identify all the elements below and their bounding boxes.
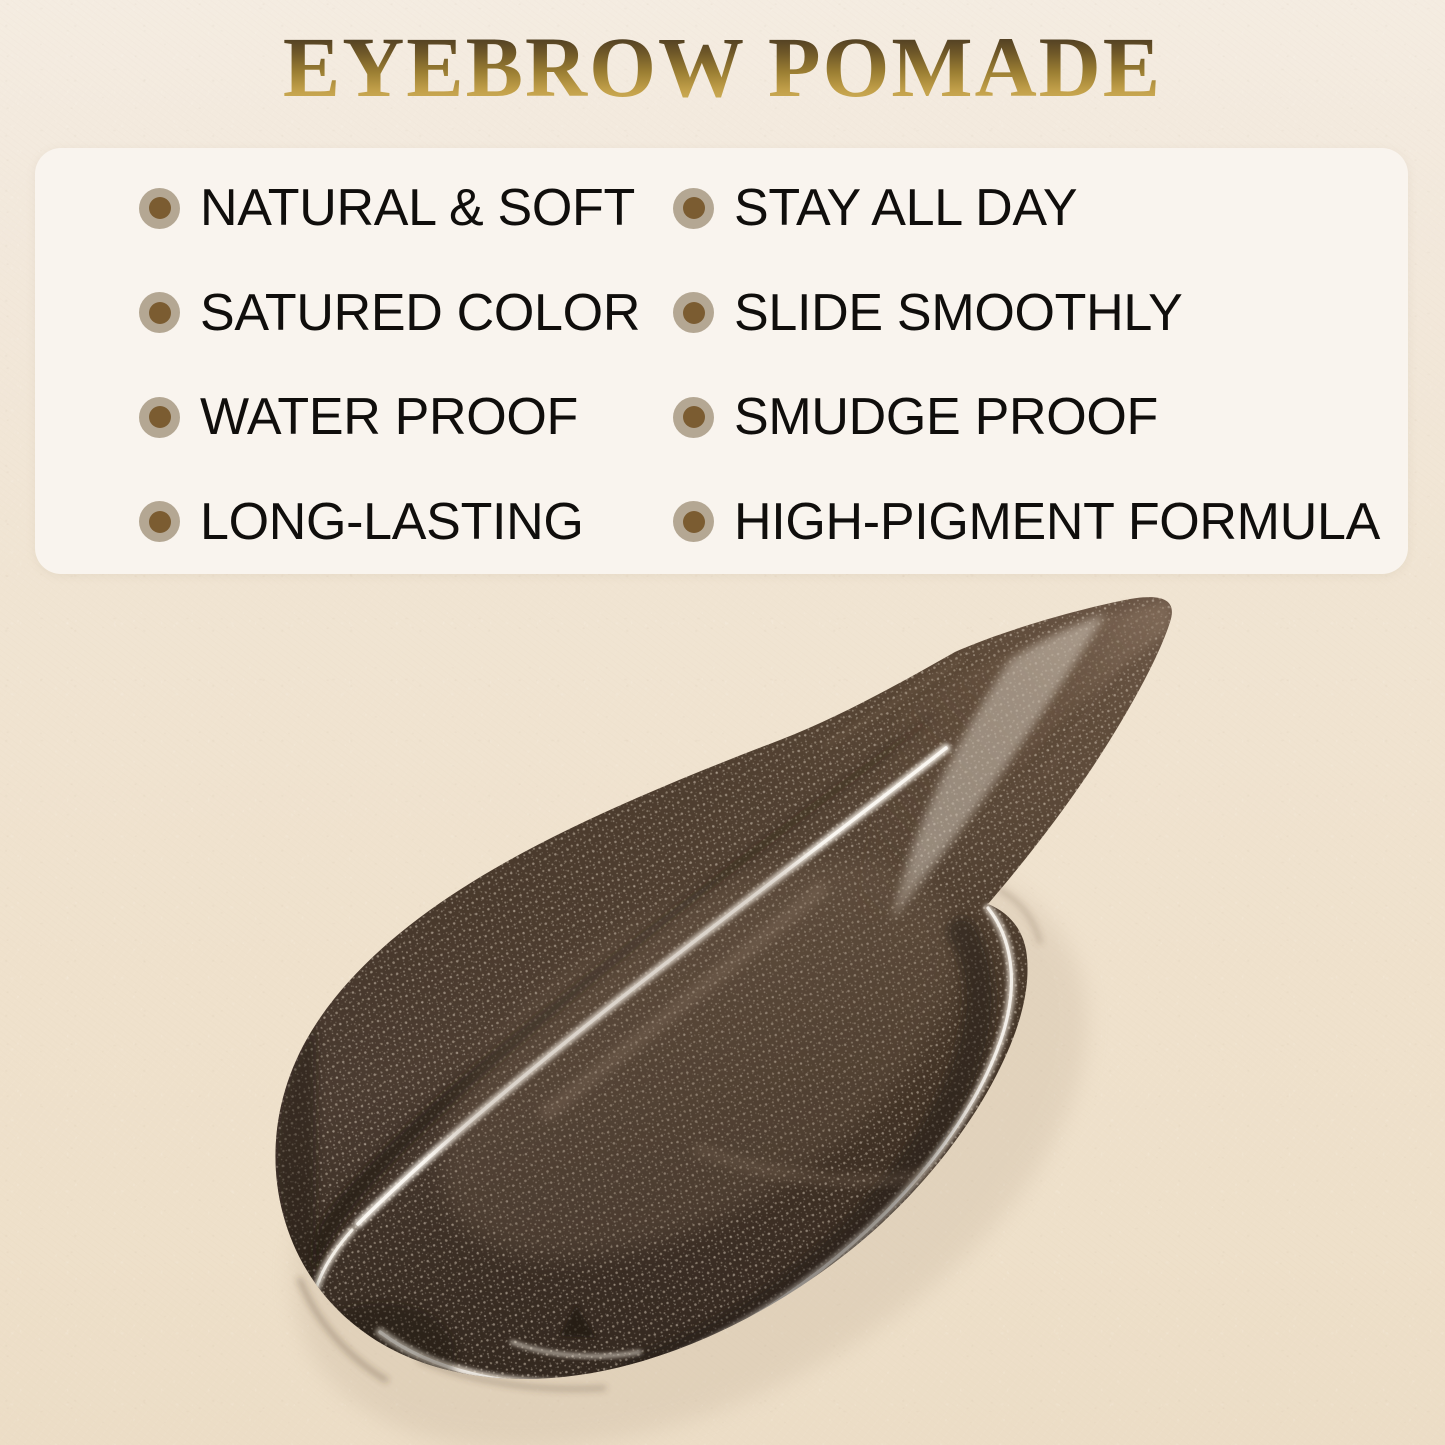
product-feature-poster: EYEBROW POMADE NATURAL & SOFT STAY ALL D…	[0, 0, 1445, 1445]
feature-label: SMUDGE PROOF	[734, 391, 1158, 443]
feature-label: WATER PROOF	[200, 391, 578, 443]
feature-item-stay-all-day: STAY ALL DAY	[660, 182, 1408, 234]
swatch-body	[0, 590, 1445, 1445]
bullet-dot-icon	[139, 188, 180, 229]
pomade-swatch-illustration	[0, 590, 1445, 1445]
feature-item-natural-and-soft: NATURAL & SOFT	[35, 182, 660, 234]
bullet-dot-icon	[139, 292, 180, 333]
feature-label: STAY ALL DAY	[734, 182, 1077, 234]
feature-item-high-pigment-formula: HIGH-PIGMENT FORMULA	[660, 496, 1408, 548]
features-grid: NATURAL & SOFT STAY ALL DAY SATURED COLO…	[35, 148, 1408, 574]
feature-item-long-lasting: LONG-LASTING	[35, 496, 660, 548]
feature-label: NATURAL & SOFT	[200, 182, 635, 234]
bullet-dot-icon	[673, 501, 714, 542]
page-title: EYEBROW POMADE	[0, 22, 1445, 112]
bullet-dot-icon	[139, 501, 180, 542]
feature-item-slide-smoothly: SLIDE SMOOTHLY	[660, 287, 1408, 339]
feature-label: SATURED COLOR	[200, 287, 640, 339]
feature-item-satured-color: SATURED COLOR	[35, 287, 660, 339]
feature-label: LONG-LASTING	[200, 496, 584, 548]
bullet-dot-icon	[673, 188, 714, 229]
feature-item-smudge-proof: SMUDGE PROOF	[660, 391, 1408, 443]
feature-item-water-proof: WATER PROOF	[35, 391, 660, 443]
bullet-dot-icon	[673, 292, 714, 333]
feature-label: HIGH-PIGMENT FORMULA	[734, 496, 1380, 548]
product-swatch-image	[0, 590, 1445, 1445]
features-card: NATURAL & SOFT STAY ALL DAY SATURED COLO…	[35, 148, 1408, 574]
feature-label: SLIDE SMOOTHLY	[734, 287, 1183, 339]
bullet-dot-icon	[673, 397, 714, 438]
bullet-dot-icon	[139, 397, 180, 438]
